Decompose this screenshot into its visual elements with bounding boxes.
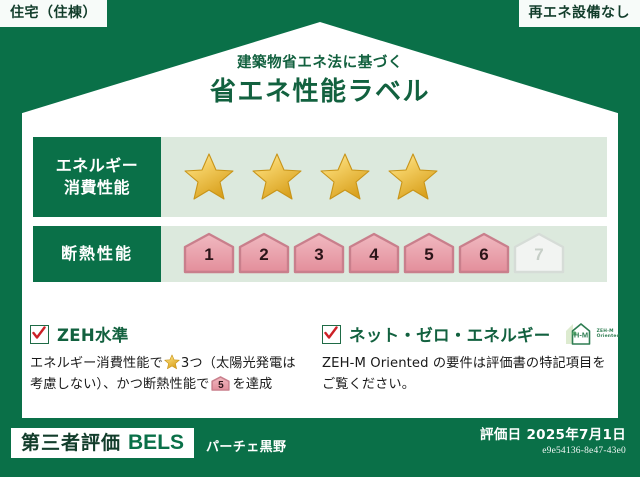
evaluation-id: e9e54136-8e47-43e0 (480, 446, 626, 456)
star-icon (183, 152, 235, 202)
insulation-level-label: 3 (293, 245, 345, 265)
badge-building-type: 住宅（住棟） (0, 0, 107, 27)
inline-insulation-badge-label: 5 (211, 378, 230, 394)
row-insulation-performance: 断熱性能 1 (33, 226, 607, 282)
insulation-level-label: 2 (238, 245, 290, 265)
net-zero-energy-body: ZEH-M Oriented の要件は評価書の特記項目をご覧ください。 (322, 353, 610, 396)
row-insulation-label: 断熱性能 (33, 226, 161, 282)
energy-performance-label: 住宅（住棟） 再エネ設備なし 建築物省エネ法に基づく 省エネ性能ラベル エネルギ… (0, 0, 640, 477)
title-block: 建築物省エネ法に基づく 省エネ性能ラベル (0, 56, 640, 107)
row-energy-performance: エネルギー 消費性能 (33, 137, 607, 217)
insulation-level-label: 7 (513, 245, 565, 265)
zeh-standard-header: ZEH水準 (30, 322, 304, 346)
zeh-standard-title: ZEH水準 (57, 322, 129, 346)
star-icon (251, 152, 303, 202)
insulation-scale: 1 2 3 (183, 232, 565, 276)
star-rating (183, 152, 439, 202)
badge-renewable-energy: 再エネ設備なし (519, 0, 640, 27)
inline-star-icon (164, 354, 180, 370)
zeh-m-oriented-logo: H-M ZEH-M Oriented (564, 322, 620, 346)
checkbox-checked-icon (30, 325, 49, 344)
zeh-standard-section: ZEH水準 エネルギー消費性能で 3つ（太陽光発電は考慮しない）、かつ断熱性能で… (30, 322, 304, 396)
insulation-level-6: 6 (458, 232, 510, 274)
label-title: 省エネ性能ラベル (0, 78, 640, 107)
checkbox-checked-icon (322, 325, 341, 344)
bels-badge: 第三者評価 BELS (11, 428, 194, 458)
insulation-level-4: 4 (348, 232, 400, 274)
net-zero-energy-header: ネット・ゼロ・エネルギー H-M ZEH-M Oriented (322, 322, 610, 346)
row-energy-label-line2: 消費性能 (56, 177, 139, 199)
row-energy-label-line1: エネルギー (56, 155, 139, 177)
evaluation-date-label: 評価日 (480, 427, 521, 443)
insulation-level-label: 5 (403, 245, 455, 265)
bels-en-label: BELS (128, 432, 184, 453)
insulation-level-label: 1 (183, 245, 235, 265)
label-subtitle: 建築物省エネ法に基づく (0, 56, 640, 72)
star-icon (387, 152, 439, 202)
label-footer: 第三者評価 BELS パーチェ黒野 評価日 2025年7月1日 e9e54136… (0, 419, 640, 477)
row-insulation-value: 1 2 3 (161, 226, 607, 282)
zeh-standard-body: エネルギー消費性能で 3つ（太陽光発電は考慮しない）、かつ断熱性能で 5 を達成 (30, 353, 304, 396)
net-zero-energy-section: ネット・ゼロ・エネルギー H-M ZEH-M Oriented ZEH-M Or… (322, 322, 610, 396)
evaluation-date-value: 2025年7月1日 (526, 427, 626, 443)
insulation-level-3: 3 (293, 232, 345, 274)
zeh-house-logo-icon: H-M (564, 322, 594, 346)
insulation-level-7: 7 (513, 232, 565, 274)
net-zero-energy-title: ネット・ゼロ・エネルギー (349, 322, 551, 346)
metrics-section: エネルギー 消費性能 (33, 137, 607, 291)
star-icon (319, 152, 371, 202)
insulation-level-5: 5 (403, 232, 455, 274)
zeh-body-part1: エネルギー消費性能で (30, 356, 163, 371)
evaluation-info: 評価日 2025年7月1日 e9e54136-8e47-43e0 (480, 427, 626, 456)
insulation-level-1: 1 (183, 232, 235, 274)
bels-jp-label: 第三者評価 (21, 434, 121, 453)
zeh-body-part3: を達成 (232, 377, 272, 392)
row-energy-value (161, 137, 607, 217)
zeh-logo-text: ZEH-M Oriented (597, 329, 620, 339)
insulation-level-2: 2 (238, 232, 290, 274)
insulation-level-label: 4 (348, 245, 400, 265)
property-name: パーチェ黒野 (206, 436, 286, 455)
inline-insulation-badge-icon: 5 (211, 375, 230, 392)
evaluation-date: 評価日 2025年7月1日 (480, 427, 626, 443)
zeh-logo-line2: Oriented (597, 334, 620, 339)
insulation-level-label: 6 (458, 245, 510, 265)
certification-sections: ZEH水準 エネルギー消費性能で 3つ（太陽光発電は考慮しない）、かつ断熱性能で… (30, 322, 610, 396)
svg-text:H-M: H-M (574, 331, 588, 340)
row-energy-label: エネルギー 消費性能 (33, 137, 161, 217)
